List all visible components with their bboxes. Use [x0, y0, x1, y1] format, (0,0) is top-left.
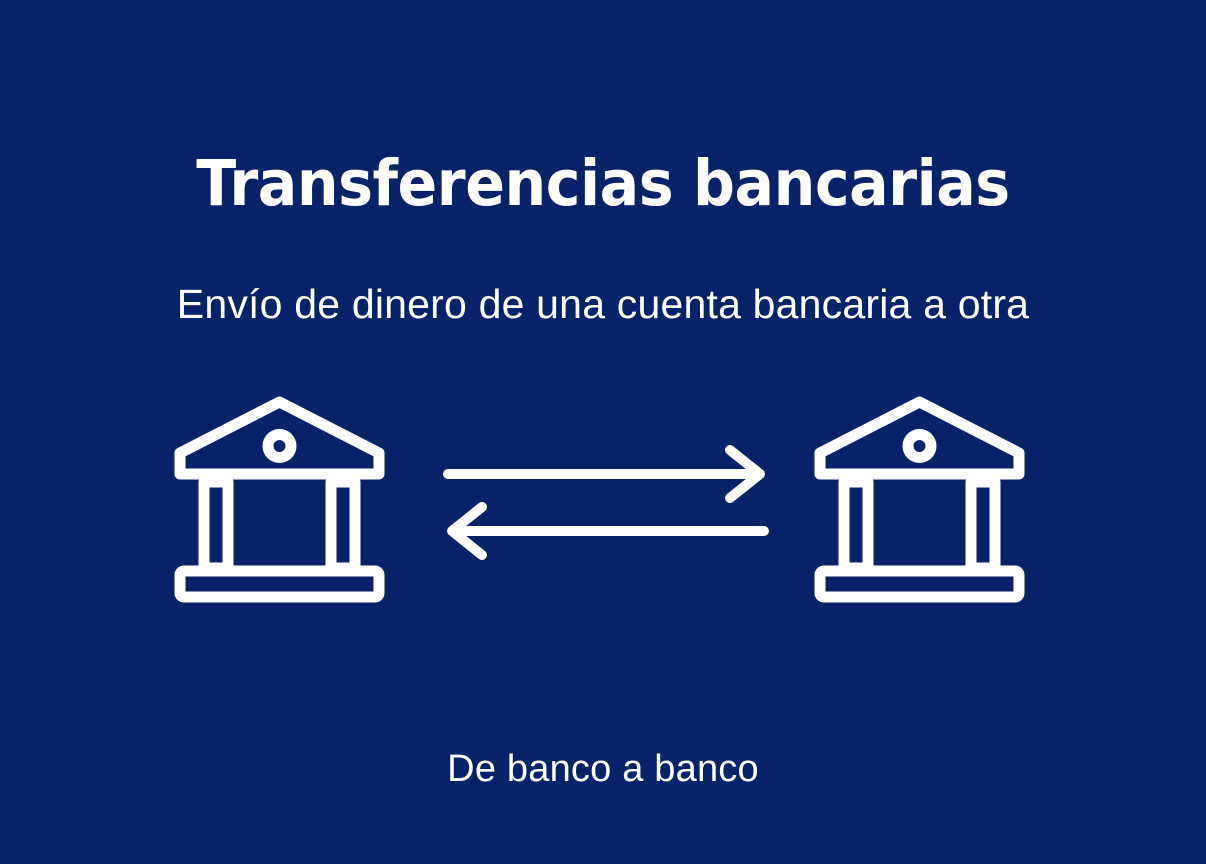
bank-building-icon-destination	[812, 390, 1027, 605]
slide-canvas: Transferencias bancarias Envío de dinero…	[0, 0, 1206, 864]
bidirectional-transfer-arrows-icon	[438, 445, 774, 550]
transfer-diagram	[0, 390, 1206, 610]
bank-building-icon-origin	[172, 390, 387, 605]
caption-text: De banco a banco	[0, 745, 1206, 793]
subtitle-text: Envío de dinero de una cuenta bancaria a…	[0, 278, 1206, 330]
page-title: Transferencias bancarias	[42, 146, 1164, 222]
